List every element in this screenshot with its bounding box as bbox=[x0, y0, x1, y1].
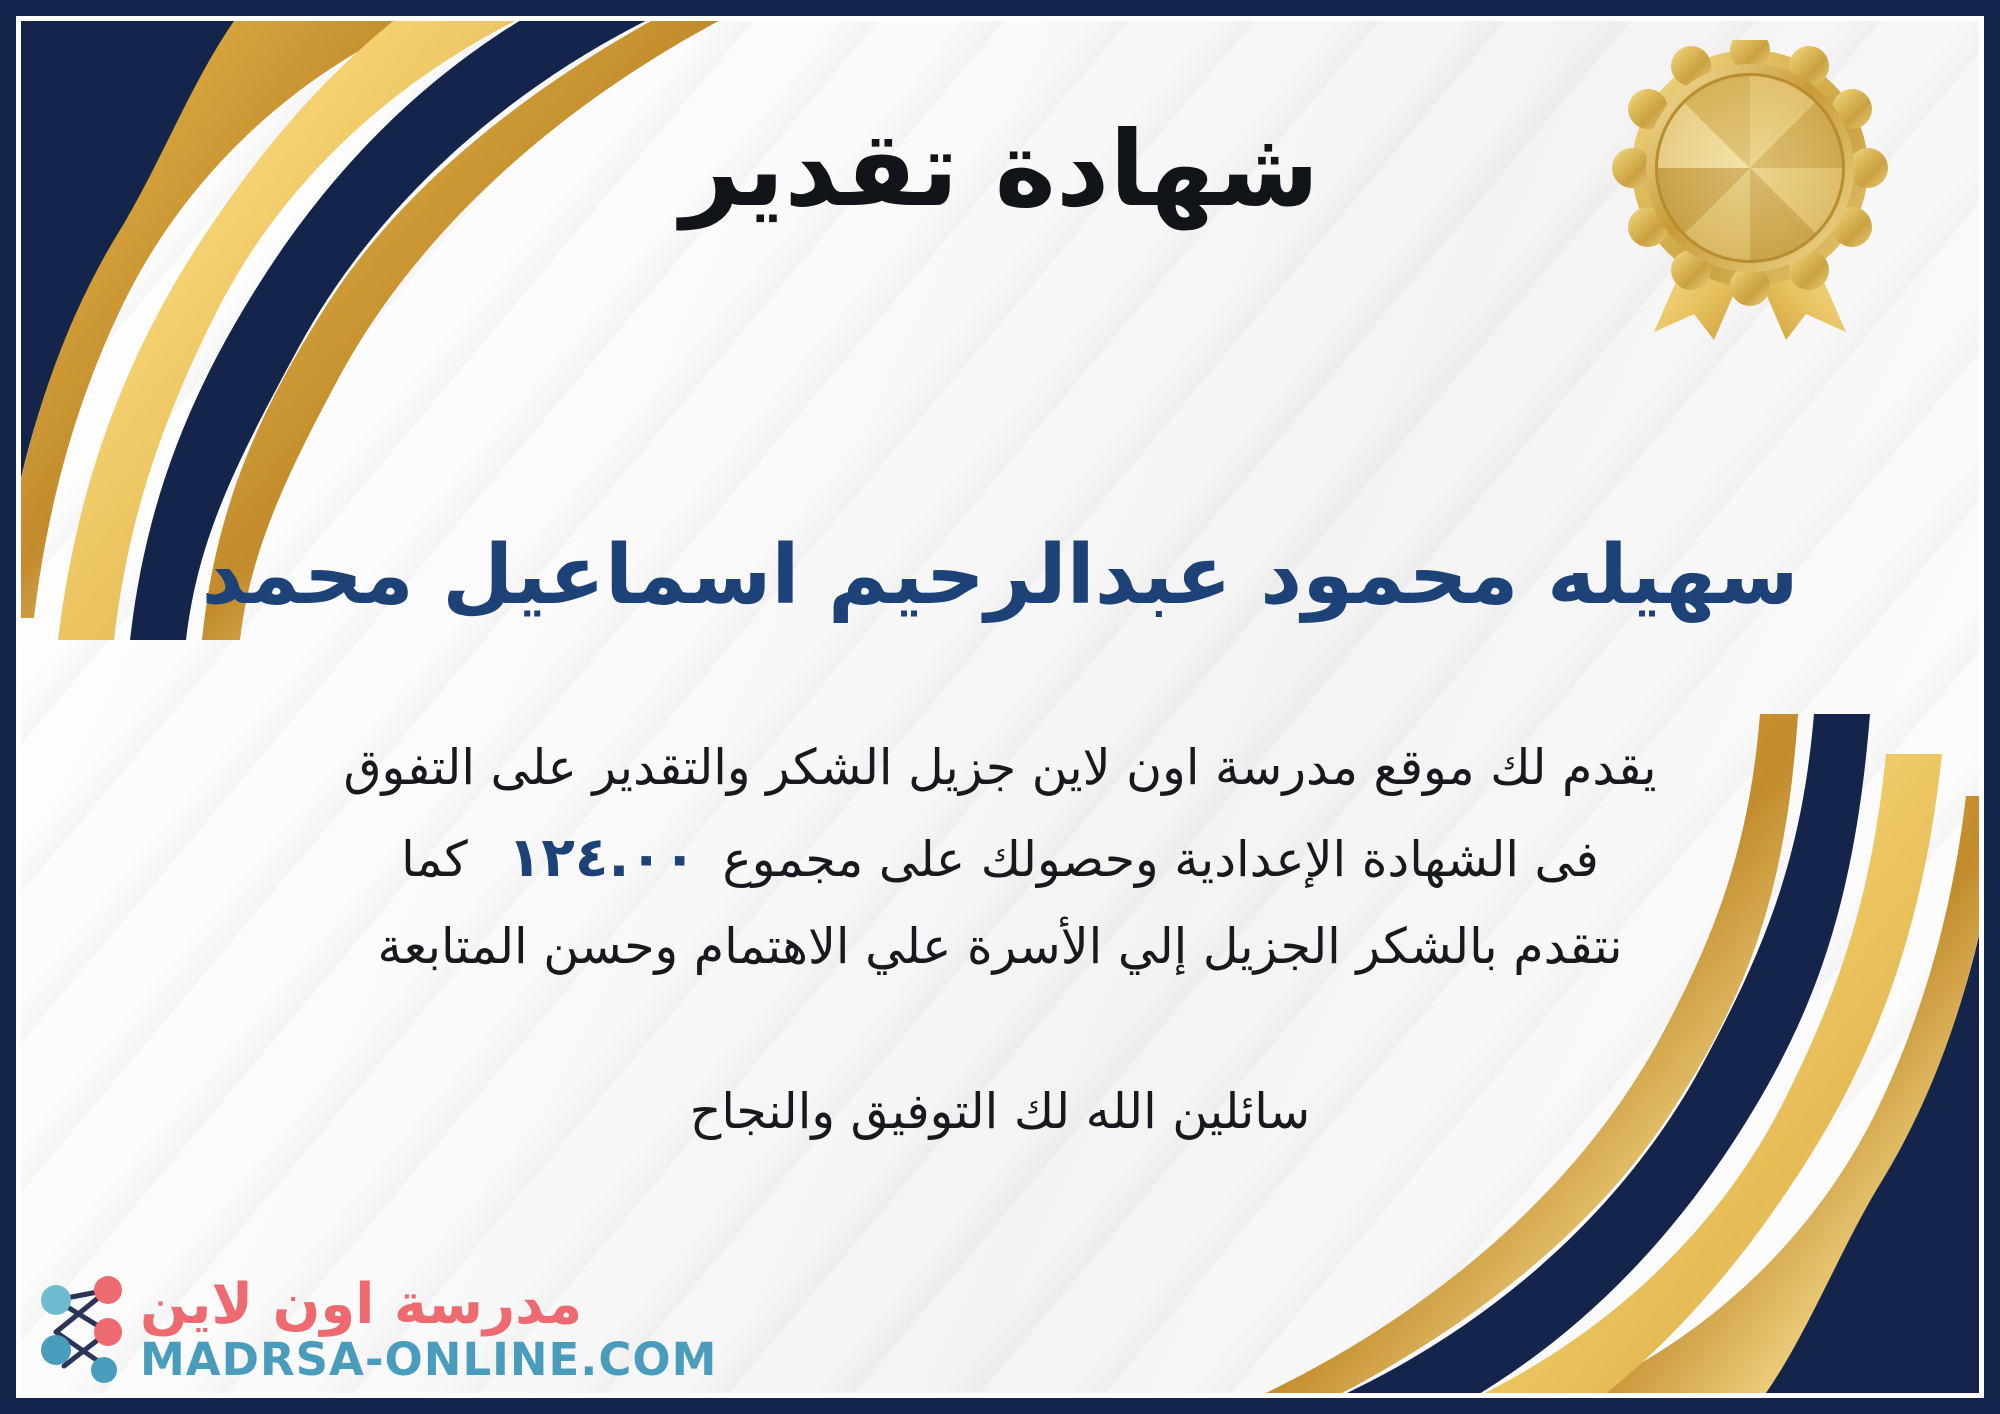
total-score-value: ١٢٤.٠٠ bbox=[482, 825, 723, 889]
brand-wordmark: مدرسة اون لاين MADRSA-ONLINE.COM bbox=[140, 1277, 717, 1382]
network-nodes-icon bbox=[34, 1274, 130, 1384]
brand-domain: MADRSA-ONLINE.COM bbox=[140, 1337, 717, 1382]
body-line-2-prefix: فى الشهادة الإعدادية وحصولك على مجموع bbox=[723, 831, 1599, 888]
body-line-2-suffix: كما bbox=[401, 831, 482, 888]
closing-line: سائلين الله لك التوفيق والنجاح bbox=[0, 1083, 2000, 1140]
certificate-canvas: شهادة تقدير سهيله محمود عبدالرحيم اسماعي… bbox=[0, 0, 2000, 1414]
body-line-3: نتقدم بالشكر الجزيل إلي الأسرة علي الاهت… bbox=[120, 905, 1880, 989]
recipient-name: سهيله محمود عبدالرحيم اسماعيل محمد bbox=[0, 527, 2000, 625]
page-title: شهادة تقدير bbox=[0, 112, 2000, 226]
body-line-1: يقدم لك موقع مدرسة اون لاين جزيل الشكر و… bbox=[120, 726, 1880, 810]
brand-name-arabic: مدرسة اون لاين bbox=[140, 1277, 582, 1333]
certificate-body: يقدم لك موقع مدرسة اون لاين جزيل الشكر و… bbox=[120, 726, 1880, 989]
brand-logo[interactable]: مدرسة اون لاين MADRSA-ONLINE.COM bbox=[34, 1274, 717, 1384]
body-line-2: فى الشهادة الإعدادية وحصولك على مجموع١٢٤… bbox=[120, 810, 1880, 905]
